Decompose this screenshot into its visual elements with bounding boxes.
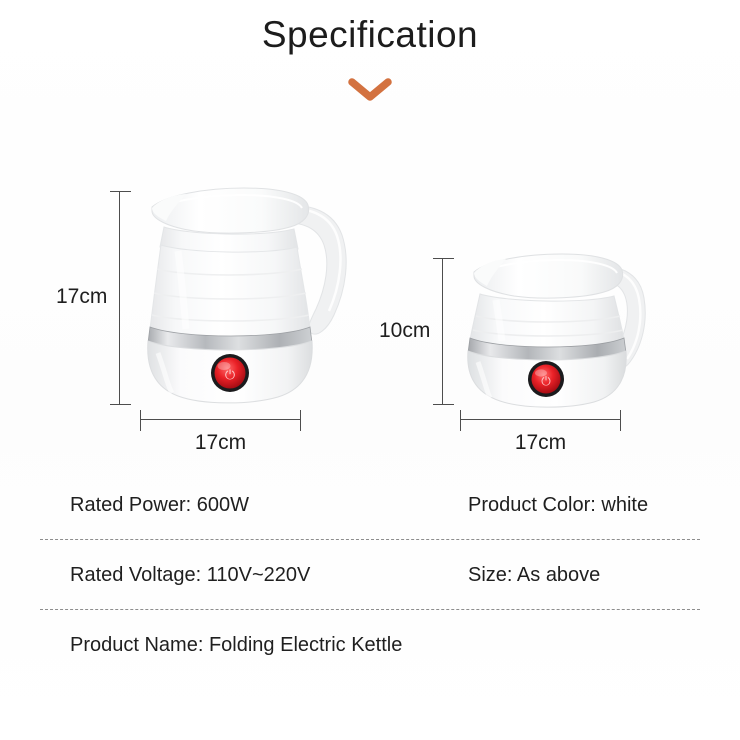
specification-table: Rated Power: 600W Product Color: white R… — [0, 470, 740, 680]
table-row: Rated Power: 600W Product Color: white — [0, 470, 740, 540]
svg-text:⏻: ⏻ — [225, 368, 235, 383]
dimension-line-height-expanded — [119, 191, 120, 405]
spec-product-color: Product Color: white — [468, 494, 648, 517]
specification-page: Specification — [0, 0, 740, 740]
dimension-label-height-expanded: 17cm — [56, 285, 107, 309]
kettle-expanded-illustration: ⏻ — [128, 183, 368, 411]
table-row: Rated Voltage: 110V~220V Size: As above — [0, 540, 740, 610]
dimension-line-width-expanded — [140, 419, 301, 420]
dimension-label-width-collapsed: 17cm — [460, 431, 621, 455]
dimension-line-height-collapsed — [442, 258, 443, 405]
spec-product-name: Product Name: Folding Electric Kettle — [70, 634, 402, 657]
dimension-line-width-collapsed — [460, 419, 621, 420]
dimension-label-width-expanded: 17cm — [140, 431, 301, 455]
product-diagram: ⏻ 17cm 17cm — [0, 0, 740, 470]
spec-rated-power: Rated Power: 600W — [70, 494, 249, 517]
spec-rated-voltage: Rated Voltage: 110V~220V — [70, 564, 310, 587]
dimension-label-height-collapsed: 10cm — [379, 319, 430, 343]
spec-size: Size: As above — [468, 564, 600, 587]
table-row: Product Name: Folding Electric Kettle — [0, 610, 740, 680]
kettle-collapsed-illustration: ⏻ — [452, 250, 656, 412]
